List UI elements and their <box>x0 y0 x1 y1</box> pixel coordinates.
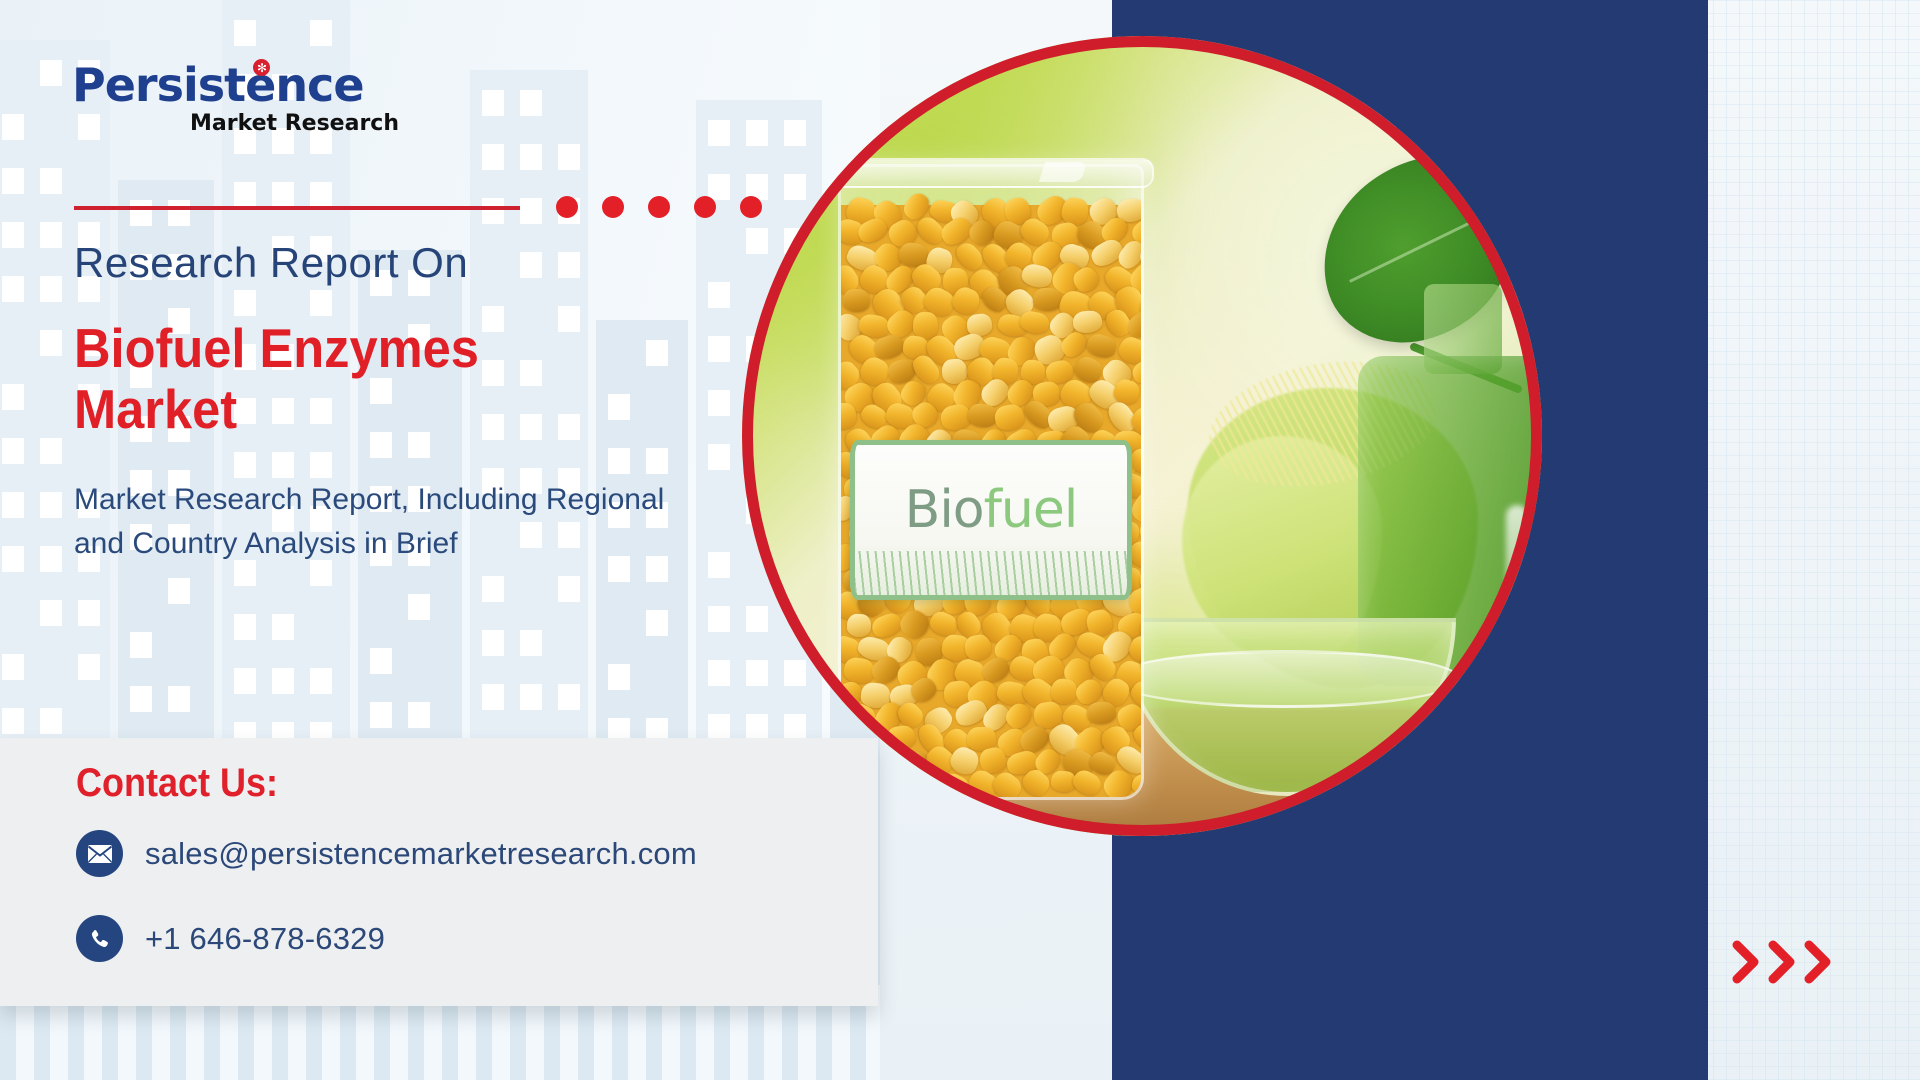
building-window <box>2 708 24 734</box>
building-window <box>370 702 392 728</box>
building-window <box>168 578 190 604</box>
hero-photo: Biofuel <box>742 36 1542 836</box>
building-window <box>234 614 256 640</box>
building-window <box>520 684 542 710</box>
red-dot <box>648 196 670 218</box>
envelope-icon <box>76 830 123 877</box>
building-window <box>310 290 332 316</box>
building-window <box>130 686 152 712</box>
building-window <box>708 282 730 308</box>
phone-icon <box>76 915 123 962</box>
building-window <box>520 198 542 224</box>
building-window <box>272 182 294 208</box>
building-window <box>234 290 256 316</box>
red-dots-decoration <box>556 196 762 218</box>
building-window <box>272 452 294 478</box>
building-window <box>168 200 190 226</box>
banner-canvas: Persistence ✻ Market Research Research R… <box>0 0 1920 1080</box>
logo-wordmark: Persistence ✻ <box>72 62 364 108</box>
building-window <box>2 168 24 194</box>
building-window <box>708 606 730 632</box>
building-window <box>78 600 100 626</box>
chevron-right-icon <box>1730 940 1762 984</box>
building-window <box>558 252 580 278</box>
building-window <box>708 336 730 362</box>
building-window <box>2 114 24 140</box>
right-grid-texture <box>1700 0 1920 1080</box>
building-window <box>310 20 332 46</box>
building-window <box>482 144 504 170</box>
building-window <box>40 330 62 356</box>
photo-red-ring <box>742 36 1542 836</box>
building-window <box>708 714 730 740</box>
building-window <box>482 576 504 602</box>
chevron-right-icon <box>1802 940 1834 984</box>
building-window <box>2 654 24 680</box>
building-window <box>40 546 62 572</box>
chevron-right-icon <box>1766 940 1798 984</box>
building-window <box>310 452 332 478</box>
building-window <box>608 448 630 474</box>
building-window <box>2 546 24 572</box>
building-window <box>2 222 24 248</box>
building-window <box>40 276 62 302</box>
building-window <box>40 492 62 518</box>
building-window <box>708 444 730 470</box>
building-window <box>310 668 332 694</box>
building-window <box>482 684 504 710</box>
building-window <box>2 438 24 464</box>
building-window <box>646 610 668 636</box>
building-window <box>234 452 256 478</box>
building-window <box>608 664 630 690</box>
report-kicker: Research Report On <box>74 239 468 287</box>
building-window <box>482 198 504 224</box>
red-dot <box>694 196 716 218</box>
building-window <box>408 594 430 620</box>
building-window <box>558 576 580 602</box>
building-window <box>40 600 62 626</box>
red-divider-rule <box>74 206 520 210</box>
building-window <box>520 252 542 278</box>
building-window <box>646 340 668 366</box>
building-window <box>408 702 430 728</box>
building-window <box>708 120 730 146</box>
building-window <box>272 668 294 694</box>
building-window <box>482 630 504 656</box>
building-window <box>310 182 332 208</box>
contact-phone-text: +1 646-878-6329 <box>145 921 385 957</box>
contact-email-row[interactable]: sales@persistencemarketresearch.com <box>76 830 697 877</box>
logo-tagline: Market Research <box>190 111 399 136</box>
building-window <box>520 90 542 116</box>
building-window <box>646 448 668 474</box>
building-window <box>130 632 152 658</box>
contact-heading: Contact Us: <box>76 761 278 806</box>
building-window <box>234 668 256 694</box>
building-window <box>558 684 580 710</box>
building-window <box>40 438 62 464</box>
building-window <box>78 654 100 680</box>
building-window <box>130 200 152 226</box>
building-window <box>40 60 62 86</box>
building-window <box>2 384 24 410</box>
building-window <box>40 222 62 248</box>
logo-wordmark-text: Persistence <box>72 58 364 112</box>
building-window <box>2 492 24 518</box>
contact-email-text: sales@persistencemarketresearch.com <box>145 836 697 872</box>
report-subtitle: Market Research Report, Including Region… <box>74 478 714 565</box>
chevron-arrows-decoration <box>1730 940 1834 984</box>
building-window <box>370 648 392 674</box>
building-window <box>272 614 294 640</box>
building-window <box>520 144 542 170</box>
building-window <box>482 90 504 116</box>
contact-phone-row[interactable]: +1 646-878-6329 <box>76 915 385 962</box>
report-title: Biofuel Enzymes Market <box>74 318 644 439</box>
building-window <box>40 168 62 194</box>
building-window <box>558 144 580 170</box>
building-window <box>520 630 542 656</box>
building-window <box>234 20 256 46</box>
building-window <box>708 660 730 686</box>
company-logo[interactable]: Persistence ✻ Market Research <box>72 62 399 136</box>
building-window <box>168 686 190 712</box>
building-window <box>2 276 24 302</box>
building-window <box>40 708 62 734</box>
red-dot <box>556 196 578 218</box>
building-window <box>708 390 730 416</box>
red-dot <box>602 196 624 218</box>
building-window <box>234 182 256 208</box>
logo-asterisk-icon: ✻ <box>253 59 270 76</box>
